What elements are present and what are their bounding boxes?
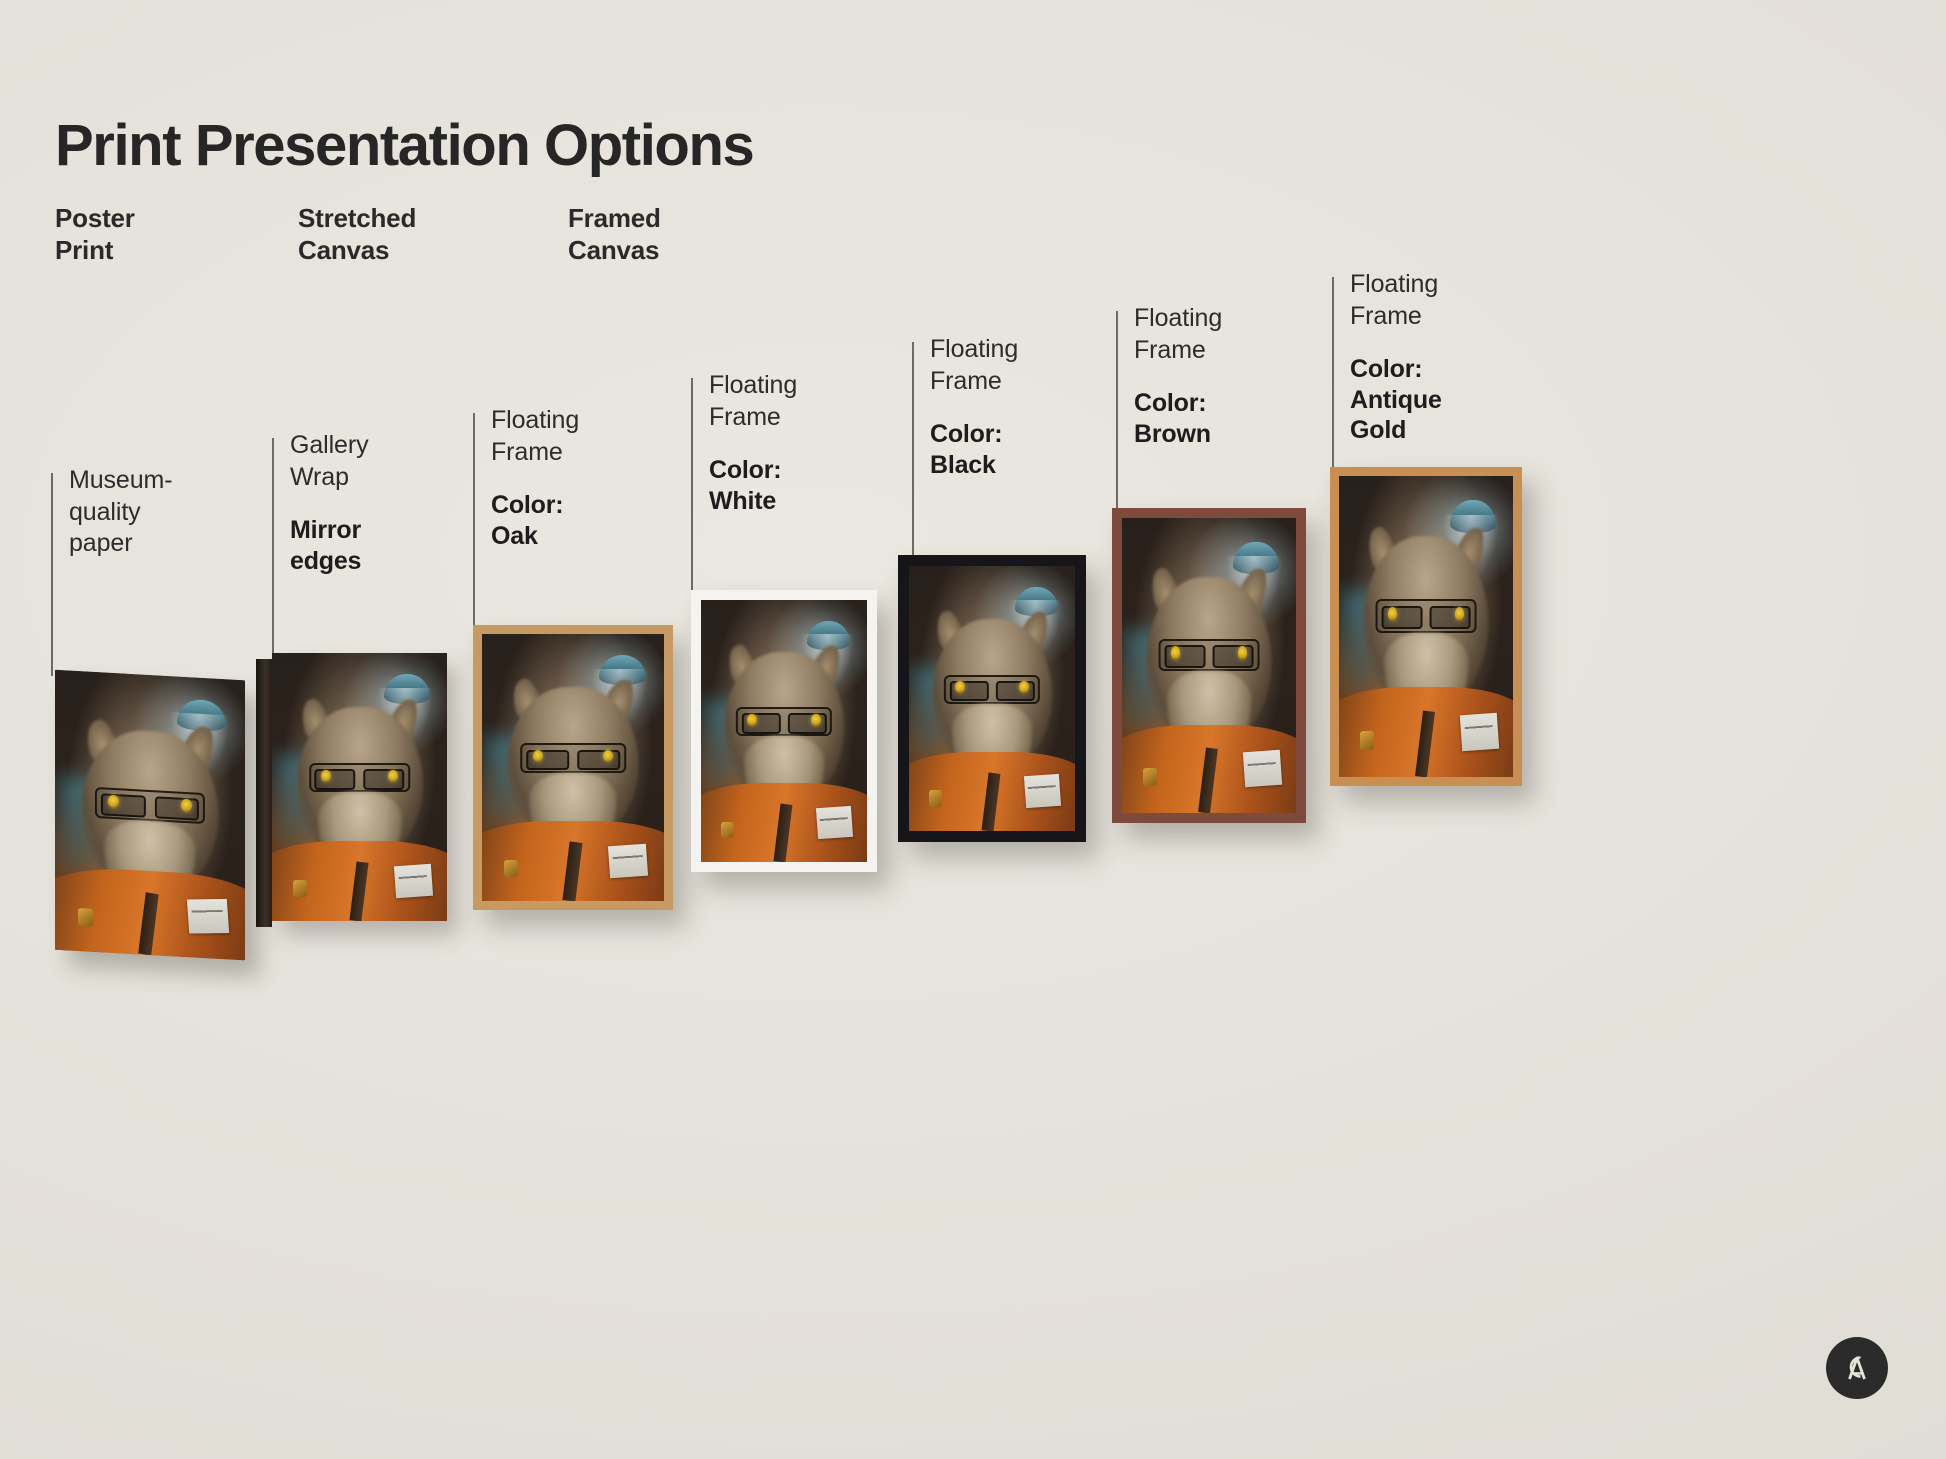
annotation-type-label: Floating Frame [1350, 269, 1580, 332]
page-title: Print Presentation Options [55, 112, 753, 179]
leader-line [1116, 311, 1118, 529]
artwork-image [701, 600, 867, 862]
category-heading-stretched-canvas: Stretched Canvas [298, 203, 416, 266]
leader-line [473, 413, 475, 628]
mockup-floating-frame-white[interactable] [691, 590, 877, 872]
mockup-floating-frame-antique-gold[interactable] [1330, 467, 1522, 786]
annotation-type-label: Floating Frame [491, 405, 721, 468]
leader-line [272, 438, 274, 653]
annotation-detail-label: Color: Oak [491, 490, 721, 551]
annotation-type-label: Floating Frame [1134, 303, 1364, 366]
artwork-image [909, 566, 1075, 831]
leader-line [51, 473, 53, 676]
mockup-floating-frame-oak[interactable] [473, 625, 673, 910]
leader-line [912, 342, 914, 558]
annotation-type-label: Floating Frame [930, 334, 1160, 397]
annotation-detail-label: Color: Brown [1134, 388, 1364, 449]
leader-line [1332, 277, 1334, 482]
artwork-image [272, 653, 447, 921]
annotation-type-label: Gallery Wrap [290, 430, 520, 493]
print-presentation-board: Print Presentation Options Poster Print … [0, 0, 1946, 1459]
annotation-detail-label: Color: Black [930, 419, 1160, 480]
annotation-detail-label: Mirror edges [290, 515, 520, 576]
canvas-mirror-edge [256, 659, 272, 927]
artwork-image [1122, 518, 1296, 813]
artwork-image [55, 670, 245, 961]
annotation-detail-label: Color: Antique Gold [1350, 354, 1580, 446]
mockup-stretched-canvas[interactable] [272, 653, 447, 921]
leader-line [691, 378, 693, 593]
annotation-type-label: Floating Frame [709, 370, 939, 433]
category-heading-framed-canvas: Framed Canvas [568, 203, 661, 266]
category-heading-poster-print: Poster Print [55, 203, 135, 266]
mockup-floating-frame-brown[interactable] [1112, 508, 1306, 823]
mockup-poster-print[interactable] [55, 670, 245, 961]
annotation-detail-label: Color: White [709, 455, 939, 516]
annotation-type-label: Museum- quality paper [69, 465, 299, 560]
brand-logo-icon [1826, 1337, 1888, 1399]
artwork-image [1339, 476, 1513, 777]
mockup-floating-frame-black[interactable] [898, 555, 1086, 842]
artwork-image [482, 634, 664, 901]
